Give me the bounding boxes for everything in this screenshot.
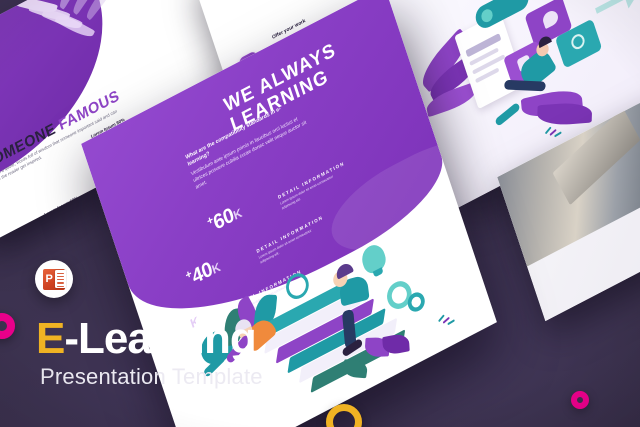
famous-stat-marker [43,222,52,231]
page-subtitle: Presentation Template [40,364,263,390]
page-title: E-Learning [36,315,256,363]
title-accent-letter: E [36,314,64,363]
clock-icon [283,269,312,303]
powerpoint-letter: P [46,274,53,285]
person-shoe [494,102,520,127]
teal-arrow-shape [592,0,640,23]
person-leg [504,80,546,91]
powerpoint-icon: P [35,260,73,298]
powerpoint-pages [55,270,66,288]
ring-magenta-left [0,313,15,339]
famous-stat-fill [48,198,100,228]
preview-canvas: Lorem 48% SOMEONE FAMOUS This is a quot [0,0,640,427]
title-rest: -Learning [64,314,255,363]
ring-magenta-right [571,391,589,409]
powerpoint-doc-glyph: P [43,269,65,290]
ring-yellow-bottom [326,404,362,427]
